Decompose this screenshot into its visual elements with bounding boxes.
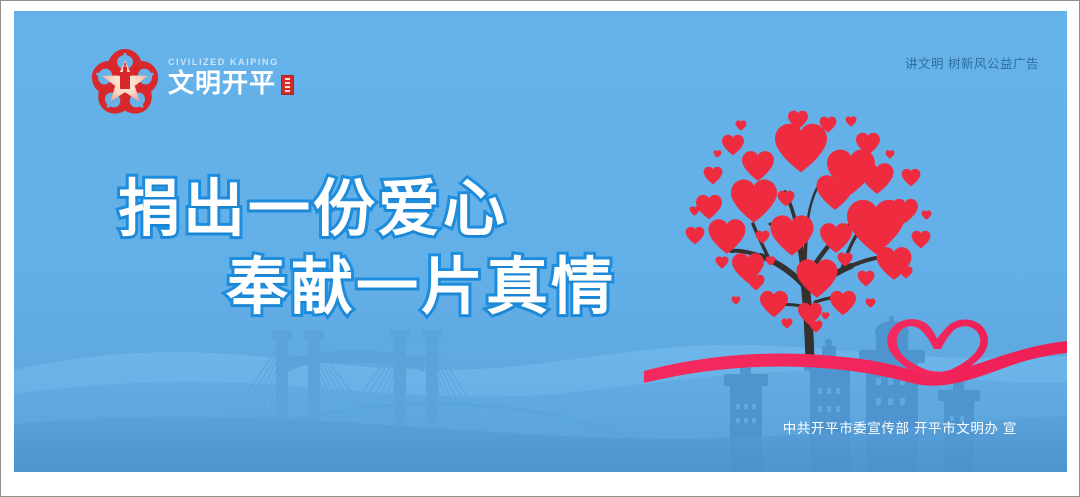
logo-wordmark: CIVILIZED KAIPING 文明开平 [168,56,298,98]
campaign-tagline: 讲文明 树新风公益广告 [905,53,1039,72]
civilized-kaiping-logo: CIVILIZED KAIPING 文明开平 [86,46,296,118]
headline-line-1: 捐出一份爱心 [118,171,658,249]
poster-frame: CIVILIZED KAIPING 文明开平 讲文明 树新风公益广告 捐出一份爱… [0,0,1080,497]
issuing-authority-credit: 中共开平市委宣传部 开平市文明办 宣 [783,417,1017,437]
red-vertical-seal-icon [281,75,294,95]
headline-line-2: 奉献一片真情 [118,249,658,327]
logo-chinese-name: 文明开平 [168,68,276,98]
logo-english-name: CIVILIZED KAIPING [168,56,298,68]
public-service-poster: CIVILIZED KAIPING 文明开平 讲文明 树新风公益广告 捐出一份爱… [14,11,1067,472]
heart-ribbon-illustration [644,291,1067,396]
kaiping-flower-star-emblem-icon [86,46,164,118]
page-title: 捐出一份爱心 奉献一片真情 [118,171,658,327]
